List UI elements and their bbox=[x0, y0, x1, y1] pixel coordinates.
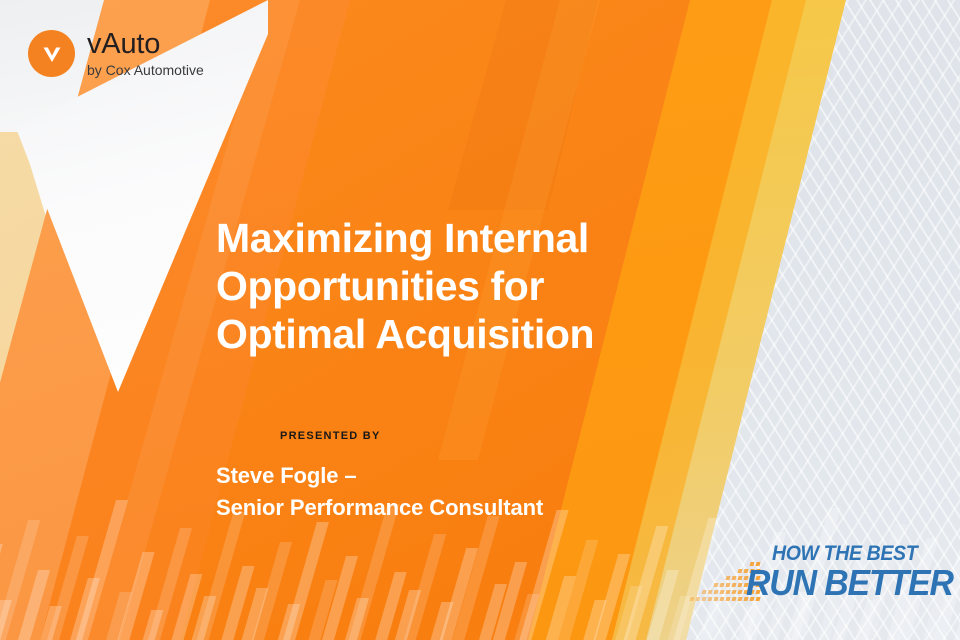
brand-name: vAuto bbox=[87, 30, 204, 59]
title-line-3: Optimal Acquisition bbox=[216, 310, 686, 358]
presenter-role: Senior Performance Consultant bbox=[216, 492, 736, 524]
page-title: Maximizing Internal Opportunities for Op… bbox=[216, 214, 686, 358]
v-circle-logo-icon bbox=[28, 30, 75, 77]
presenter-name-block: Steve Fogle – Senior Performance Consult… bbox=[216, 460, 736, 524]
vauto-logo: vAuto by Cox Automotive bbox=[28, 30, 204, 77]
logo-wordmark: vAuto by Cox Automotive bbox=[87, 30, 204, 77]
brand-tagline: by Cox Automotive bbox=[87, 63, 204, 77]
presenter-name: Steve Fogle – bbox=[216, 460, 736, 492]
presented-by-label: PRESENTED BY bbox=[280, 430, 381, 442]
title-line-2: Opportunities for bbox=[216, 262, 686, 310]
title-slide: vAuto by Cox Automotive Maximizing Inter… bbox=[0, 0, 960, 640]
tagline-bottom-line: RUN BETTER bbox=[746, 562, 953, 604]
how-the-best-run-better-lockup: HOW THE BEST RUN BETTER bbox=[690, 542, 940, 618]
title-line-1: Maximizing Internal bbox=[216, 214, 686, 262]
